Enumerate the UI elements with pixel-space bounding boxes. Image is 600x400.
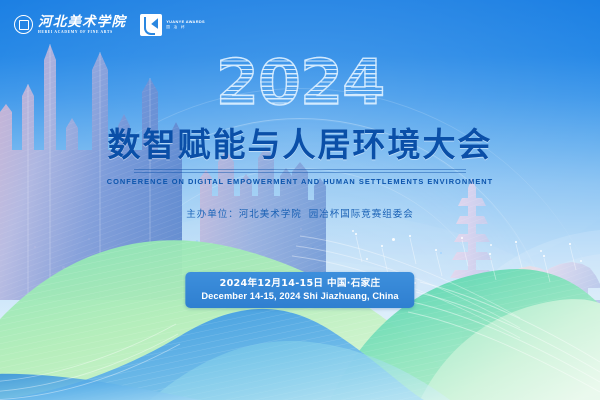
header-logos: 河北美术学院 HEBEI ACADEMY OF FINE ARTS YUANYE… <box>14 14 205 36</box>
hebei-academy-cn-name: 河北美术学院 <box>38 15 126 29</box>
title-divider <box>134 169 466 173</box>
yuanye-awards-en-name: YUANYE AWARDS <box>166 20 205 24</box>
date-location-cn: 2024年12月14-15日 中国·石家庄 <box>201 277 398 290</box>
logo-yuanye-awards[interactable]: YUANYE AWARDS 园 冶 杯 <box>140 14 205 36</box>
hebei-academy-en-name: HEBEI ACADEMY OF FINE ARTS <box>38 31 126 35</box>
hebei-academy-seal-icon <box>14 15 33 34</box>
page-title: 数智赋能与人居环境大会 <box>0 126 600 164</box>
title-block: 数智赋能与人居环境大会 CONFERENCE ON DIGITAL EMPOWE… <box>0 126 600 186</box>
date-location-en: December 14-15, 2024 Shi Jiazhuang, Chin… <box>201 290 398 302</box>
conference-banner: 河北美术学院 HEBEI ACADEMY OF FINE ARTS YUANYE… <box>0 0 600 400</box>
organizer-name-1: 河北美术学院 <box>239 209 302 220</box>
year-heading: 2024 <box>216 52 385 114</box>
yuanye-awards-cn-name: 园 冶 杯 <box>166 26 205 30</box>
organizer-name-2: 园冶杯国际竞赛组委会 <box>309 209 414 220</box>
organizer-label: 主办单位： <box>186 209 239 220</box>
logo-hebei-academy[interactable]: 河北美术学院 HEBEI ACADEMY OF FINE ARTS <box>14 15 126 34</box>
year-heading-wrap: 2024 <box>0 52 600 116</box>
page-subtitle: CONFERENCE ON DIGITAL EMPOWERMENT AND HU… <box>0 177 600 186</box>
organizer-line: 主办单位：河北美术学院园冶杯国际竞赛组委会 <box>0 206 600 220</box>
yuanye-awards-mark-icon <box>140 14 162 36</box>
date-location-badge: 2024年12月14-15日 中国·石家庄 December 14-15, 20… <box>185 272 414 308</box>
